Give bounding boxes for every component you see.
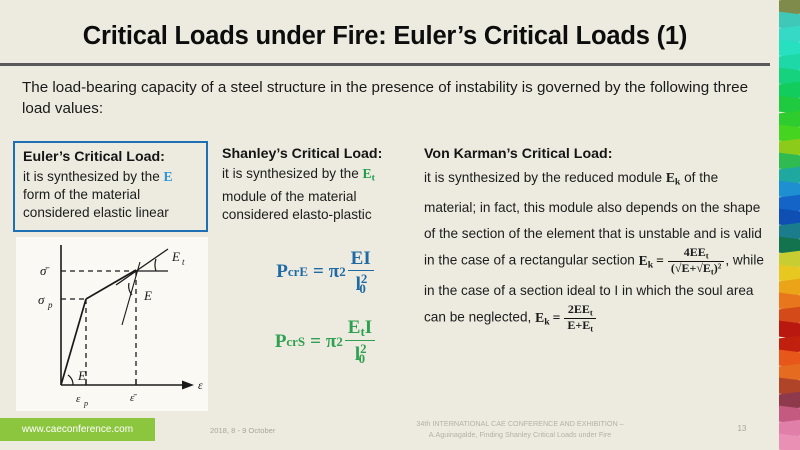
vk-formula2-lhs: Ek: [535, 310, 550, 325]
shanley-formula-numerator: EtI: [345, 318, 375, 341]
shanley-den-sub: 0: [359, 351, 365, 366]
svg-text:ε: ε: [76, 393, 81, 405]
shanley-formula-denominator: l20: [345, 341, 375, 366]
slide-canvas: Critical Loads under Fire: Euler’s Criti…: [0, 0, 800, 450]
euler-formula-pi: π: [329, 261, 339, 283]
vk-f2-num-sub: t: [590, 308, 593, 318]
euler-symbol-E: E: [164, 169, 173, 184]
shanley-critical-load-block: Shanley’s Critical Load: it is synthesiz…: [222, 145, 418, 224]
vk-body-part1: it is synthesized by the reduced module: [424, 170, 666, 185]
shanley-heading: Shanley’s Critical Load:: [222, 145, 418, 164]
vk-formula2-eq: =: [550, 310, 564, 325]
shanley-formula-lhs: P: [275, 331, 287, 353]
vk-f1-den-close: )²: [714, 261, 722, 275]
vk-f2-den-base: E+E: [567, 318, 590, 332]
euler-formula-denominator: l20: [348, 271, 374, 296]
vk-f2-num-base: 2EE: [568, 302, 590, 316]
stress-strain-diagram: σ̄ σ p ε p ε̄ ε E E E t: [16, 237, 208, 411]
vk-f2-lhs-sub: k: [544, 317, 549, 328]
vk-f2-lhs-base: E: [535, 310, 544, 325]
footer-date: 2018, 8 - 9 October: [210, 426, 350, 435]
euler-body-part2: form of the material considered elastic …: [23, 187, 169, 220]
svg-text:E: E: [77, 368, 86, 383]
svg-text:p: p: [83, 399, 88, 408]
vk-f1-den-open: (√E+√E: [671, 261, 711, 275]
shanley-body-part1: it is synthesized by the: [222, 166, 363, 181]
shanley-num-base: E: [348, 317, 361, 338]
vk-f1-num-base: 4EE: [684, 245, 706, 259]
vk-formula1-fraction: 4EEt(√E+√Et)²: [668, 246, 724, 276]
vk-f2-den-sub: t: [590, 323, 593, 333]
euler-body: it is synthesized by the E form of the m…: [23, 168, 199, 223]
footer-conference-info: 34th INTERNATIONAL CAE CONFERENCE AND EX…: [370, 419, 670, 440]
euler-formula-pi-sup: 2: [339, 264, 345, 280]
shanley-num-tail: I: [365, 317, 372, 338]
euler-formula-fraction: EI l20: [348, 249, 374, 296]
euler-formula-lhs-sub: crE: [288, 264, 308, 280]
vk-f1-num: 4EEt: [668, 246, 724, 261]
vk-f2-den: E+Et: [564, 319, 596, 333]
footer-conference-line1: 34th INTERNATIONAL CAE CONFERENCE AND EX…: [370, 419, 670, 430]
vk-f1-num-sub: t: [706, 251, 709, 261]
vk-symbol-Ek: Ek: [666, 170, 681, 185]
euler-formula-numerator: EI: [348, 249, 374, 271]
shanley-symbol-subscript: t: [372, 173, 375, 184]
euler-formula-line: PcrE = π2 EI l20: [276, 249, 375, 296]
vk-symbol1-base: E: [666, 170, 675, 185]
vk-formula2-fraction: 2EEtE+Et: [564, 303, 596, 333]
von-karman-body: it is synthesized by the reduced module …: [424, 165, 764, 335]
vk-formula1-lhs: Ek: [639, 253, 654, 268]
euler-critical-load-box: Euler’s Critical Load: it is synthesized…: [13, 141, 208, 232]
euler-den-sub: 0: [359, 281, 365, 296]
shanley-body: it is synthesized by the Et module of th…: [222, 165, 418, 224]
shanley-formula-lhs-sub: crS: [286, 334, 305, 350]
von-karman-critical-load-block: Von Karman’s Critical Load: it is synthe…: [424, 145, 764, 335]
mosaic-tile: [779, 433, 800, 450]
shanley-formula: PcrS = π2 EtI l20: [236, 318, 416, 366]
euler-heading: Euler’s Critical Load:: [23, 148, 199, 167]
svg-text:σ̄: σ̄: [40, 263, 50, 278]
svg-text:ε: ε: [198, 378, 203, 392]
shanley-formula-fraction: EtI l20: [345, 318, 375, 366]
shanley-formula-pi: π: [326, 331, 336, 353]
slide-number: 13: [730, 424, 754, 433]
euler-formula-eq: =: [308, 261, 329, 283]
svg-text:ε̄: ε̄: [130, 392, 137, 404]
euler-formula-lhs: P: [276, 261, 288, 283]
shanley-symbol-base: E: [363, 166, 372, 181]
svg-text:E: E: [171, 249, 180, 264]
decorative-color-strip: [779, 0, 800, 450]
shanley-body-part2: module of the material considered elasto…: [222, 189, 372, 222]
vk-f1-lhs-base: E: [639, 253, 648, 268]
shanley-formula-pi-sup: 2: [336, 334, 342, 350]
footer-url-link[interactable]: www.caeconference.com: [0, 418, 155, 441]
page-title: Critical Loads under Fire: Euler’s Criti…: [0, 22, 770, 51]
svg-text:p: p: [47, 300, 53, 310]
vk-f2-num: 2EEt: [564, 303, 596, 318]
vk-formula1-eq: =: [653, 253, 667, 268]
svg-text:t: t: [182, 257, 185, 267]
euler-formula: PcrE = π2 EI l20: [236, 249, 416, 296]
shanley-formula-line: PcrS = π2 EtI l20: [275, 318, 377, 366]
footer-conference-line2: A.Aguinagalde, Finding Shanley Critical …: [370, 430, 670, 441]
svg-text:E: E: [143, 288, 152, 303]
shanley-formula-eq: =: [305, 331, 326, 353]
title-divider: [0, 63, 770, 66]
von-karman-heading: Von Karman’s Critical Load:: [424, 145, 764, 164]
euler-body-part1: it is synthesized by the: [23, 169, 164, 184]
svg-text:σ: σ: [38, 292, 45, 307]
intro-paragraph: The load-bearing capacity of a steel str…: [22, 78, 762, 119]
shanley-symbol-Et: Et: [363, 166, 375, 181]
vk-f1-den: (√E+√Et)²: [668, 262, 724, 276]
